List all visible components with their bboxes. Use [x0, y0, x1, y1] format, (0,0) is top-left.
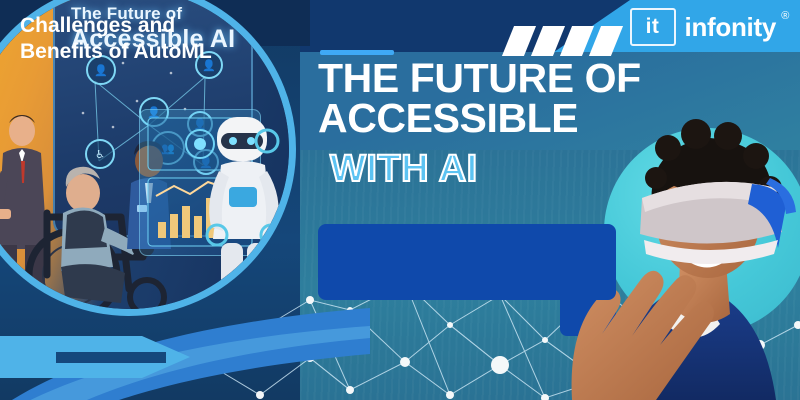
- subtitle-line-2: Benefits of AutoML: [20, 39, 288, 65]
- right-pointing-arrow: [0, 336, 190, 378]
- diagonal-stripe-decoration: [508, 26, 640, 56]
- headline-line-1: The Future of: [318, 55, 641, 101]
- logo-word-text: infonity: [685, 12, 776, 42]
- marketing-banner: The Future of Accessible AI 👤: [0, 0, 800, 400]
- logo-mark-it: it: [630, 8, 676, 46]
- subtitle-box: [318, 224, 616, 300]
- page-title: The Future of Accessible: [318, 58, 748, 138]
- logo-wordmark: infonity ®: [685, 12, 776, 43]
- headline-emphasis: With AI: [330, 148, 478, 191]
- humanoid-robot-figure: [197, 107, 289, 307]
- subtitle-line-1: Challenges and: [20, 13, 288, 39]
- brand-logo[interactable]: it infonity ®: [630, 8, 776, 46]
- arrow-inner-bar: [56, 352, 166, 363]
- subtitle-text: Challenges and Benefits of AutoML: [20, 13, 288, 66]
- registered-trademark-icon: ®: [781, 10, 789, 22]
- headline-line-2: Accessible: [318, 98, 748, 138]
